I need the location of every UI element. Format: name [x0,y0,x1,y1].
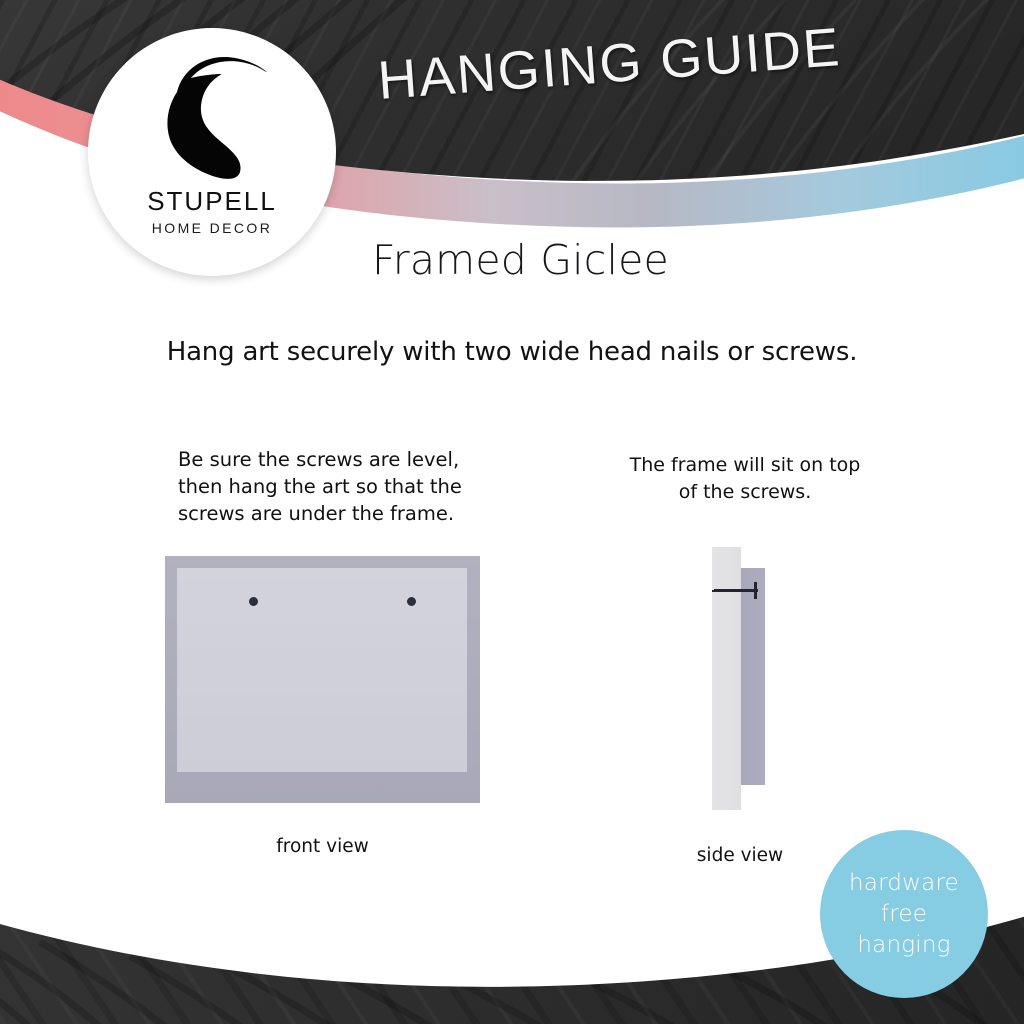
front-view-caption-line-2: then hang the art so that the [178,473,478,500]
page-title: HANGING GUIDE [376,13,879,111]
side-view-label: side view [660,845,820,866]
nail-shaft-icon [714,589,758,592]
side-view-caption-line-1: The frame will sit on top [600,452,890,479]
nail-head-icon [754,582,757,599]
front-view-caption-line-1: Be sure the screws are level, [178,446,478,473]
front-view-label: front view [165,836,480,857]
side-view-caption: The frame will sit on top of the screws. [600,452,890,506]
stupell-s-swoosh-icon [147,48,277,182]
badge-line-1: hardware [849,868,959,899]
brand-tagline: HOME DECOR [88,220,336,236]
front-view-caption-line-3: screws are under the frame. [178,500,478,527]
side-view-wall [712,547,741,810]
side-view-frame [741,568,765,785]
brand-name: STUPELL [88,186,336,217]
badge-line-3: hanging [857,930,950,961]
badge-line-2: free [881,899,927,930]
screw-dot-left [249,597,258,606]
side-view-caption-line-2: of the screws. [600,479,890,506]
product-type-heading: Framed Giclee [372,236,669,284]
screw-dot-right [407,597,416,606]
front-view-caption: Be sure the screws are level, then hang … [178,446,478,527]
front-view-diagram [165,556,480,803]
main-instruction-text: Hang art securely with two wide head nai… [0,337,1024,367]
hardware-free-hanging-badge: hardware free hanging [820,830,988,998]
front-view-artwork-panel [177,568,467,772]
brand-logo-badge: STUPELL HOME DECOR [88,28,336,276]
hanging-guide-page: HANGING GUIDE STUPELL HOME DECOR Framed … [0,0,1024,1024]
